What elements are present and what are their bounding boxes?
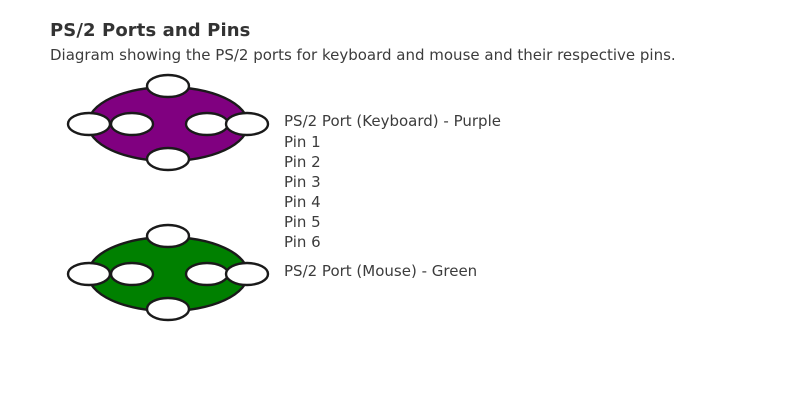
mouse-pin-left-inner <box>111 263 153 285</box>
list-item: Pin 3 <box>284 172 321 192</box>
mouse-pin-right-outer <box>226 263 268 285</box>
keyboard-pin-top <box>147 75 189 97</box>
mouse-pin-right-inner <box>186 263 228 285</box>
mouse-pin-top <box>147 225 189 247</box>
keyboard-pin-right-outer <box>226 113 268 135</box>
mouse-port-graphic <box>68 225 268 320</box>
mouse-port-label: PS/2 Port (Mouse) - Green <box>284 262 477 280</box>
list-item: Pin 6 <box>284 232 321 252</box>
list-item: Pin 2 <box>284 152 321 172</box>
mouse-pin-left-outer <box>68 263 110 285</box>
keyboard-pin-list: Pin 1 Pin 2 Pin 3 Pin 4 Pin 5 Pin 6 <box>284 132 321 252</box>
list-item: Pin 5 <box>284 212 321 232</box>
list-item: Pin 4 <box>284 192 321 212</box>
keyboard-pin-bottom <box>147 148 189 170</box>
mouse-pin-bottom <box>147 298 189 320</box>
keyboard-pin-left-inner <box>111 113 153 135</box>
keyboard-port-graphic <box>68 75 268 170</box>
keyboard-port-label: PS/2 Port (Keyboard) - Purple <box>284 112 501 130</box>
keyboard-pin-right-inner <box>186 113 228 135</box>
ps2-ports-diagram <box>0 0 800 400</box>
keyboard-pin-left-outer <box>68 113 110 135</box>
list-item: Pin 1 <box>284 132 321 152</box>
